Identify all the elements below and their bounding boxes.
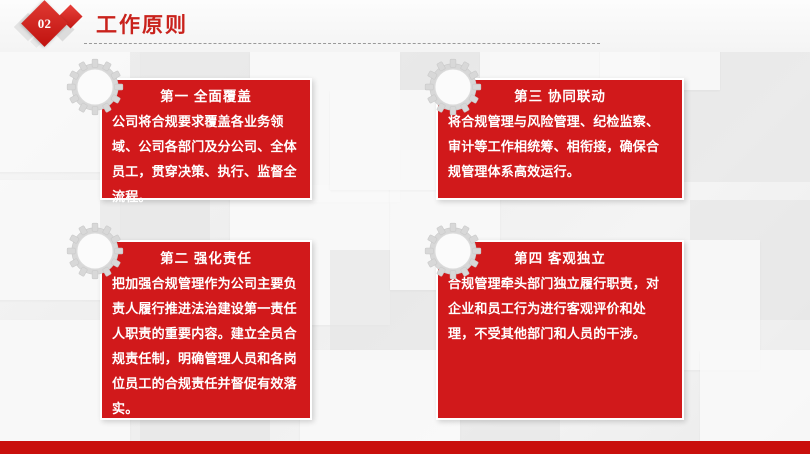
principle-card-4[interactable]: 第四 客观独立 合规管理牵头部门独立履行职责，对企业和员工行为进行客观评价和处理… — [436, 240, 684, 420]
card-title: 第二 强化责任 — [112, 249, 300, 269]
card-title: 第一 全面覆盖 — [112, 87, 300, 107]
principle-card-2[interactable]: 第三 协同联动 将合规管理与风险管理、纪检监察、审计等工作相统筹、相衔接，确保合… — [436, 78, 684, 200]
card-title: 第三 协同联动 — [448, 87, 672, 107]
badge-number: 02 — [28, 7, 61, 40]
principle-card-3[interactable]: 第二 强化责任 把加强合规管理作为公司主要负责人履行推进法治建设第一责任人职责的… — [100, 240, 312, 420]
principle-card-1[interactable]: 第一 全面覆盖 公司将合规要求覆盖各业务领域、公司各部门及分公司、全体员工，贯穿… — [100, 78, 312, 200]
slide-canvas: 02 工作原则 第一 全面覆盖 公司将合规要求覆盖各业务领域、公司各部门及分公司… — [0, 0, 810, 454]
card-body: 合规管理牵头部门独立履行职责，对企业和员工行为进行客观评价和处理，不受其他部门和… — [448, 271, 672, 346]
card-body: 把加强合规管理作为公司主要负责人履行推进法治建设第一责任人职责的重要内容。建立全… — [112, 271, 300, 421]
card-body: 公司将合规要求覆盖各业务领域、公司各部门及分公司、全体员工，贯穿决策、执行、监督… — [112, 109, 300, 209]
diamond-logo-icon: 02 — [14, 3, 90, 51]
page-title: 工作原则 — [96, 9, 188, 39]
footer-accent-bar — [0, 441, 810, 454]
dashed-divider — [84, 43, 600, 44]
card-body: 将合规管理与风险管理、纪检监察、审计等工作相统筹、相衔接，确保合规管理体系高效运… — [448, 109, 672, 184]
card-title: 第四 客观独立 — [448, 249, 672, 269]
